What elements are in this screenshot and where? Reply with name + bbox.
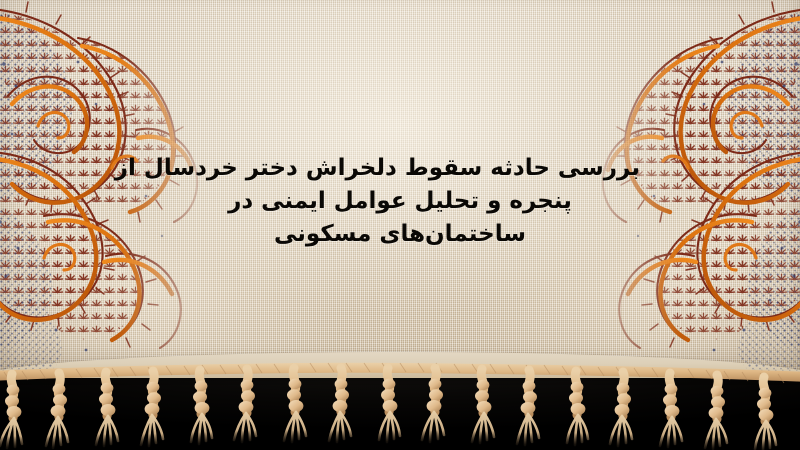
title-line-1: بررسی حادثه سقوط دلخراش دختر خردسال از [160, 152, 640, 185]
title-line-3: ساختمان‌های مسکونی [160, 218, 640, 251]
title-line-2: پنجره و تحلیل عوامل ایمنی در [160, 185, 640, 218]
slide-canvas: بررسی حادثه سقوط دلخراش دختر خردسال از پ… [0, 0, 800, 450]
slide-title: بررسی حادثه سقوط دلخراش دختر خردسال از پ… [160, 152, 640, 251]
